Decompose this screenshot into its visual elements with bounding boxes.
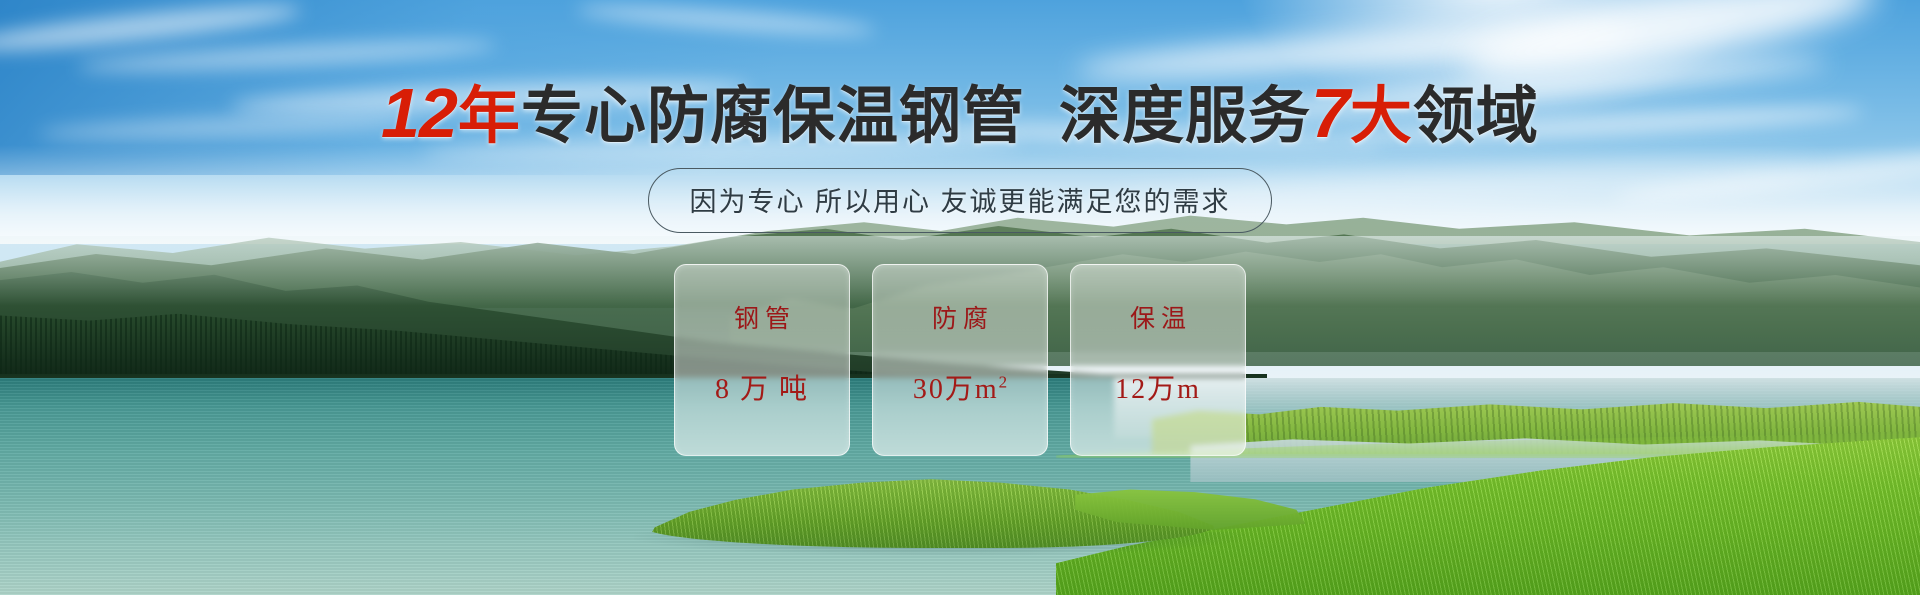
hero-banner: 12年专心防腐保温钢管深度服务7大领域 因为专心 所以用心 友诚更能满足您的需求…: [0, 0, 1920, 595]
stat-card-value: 30万m2: [913, 367, 1007, 407]
stat-card-value: 8 万 吨: [715, 367, 809, 407]
headline-fields-number: 7: [1311, 74, 1349, 152]
stat-card-value-text: 30万m: [913, 374, 999, 405]
stat-card-value: 12万m: [1115, 367, 1201, 407]
banner-subtitle-pill: 因为专心 所以用心 友诚更能满足您的需求: [648, 168, 1271, 233]
headline-fields-unit: 大: [1350, 82, 1413, 151]
stat-card-steel-pipe[interactable]: 钢管 8 万 吨: [674, 264, 850, 456]
stat-card-list: 钢管 8 万 吨 防腐 30万m2 保温 12万m: [0, 264, 1920, 456]
headline-fields-tail: 领域: [1413, 82, 1539, 151]
stat-card-label: 防腐: [926, 299, 994, 335]
banner-subtitle-wrap: 因为专心 所以用心 友诚更能满足您的需求: [0, 168, 1920, 233]
banner-content: 12年专心防腐保温钢管深度服务7大领域 因为专心 所以用心 友诚更能满足您的需求…: [0, 0, 1920, 595]
stat-card-anticorrosion[interactable]: 防腐 30万m2: [872, 264, 1048, 456]
headline-years-number: 12: [381, 74, 457, 152]
stat-card-value-superscript: 2: [999, 373, 1008, 392]
headline-main-text: 专心防腐保温钢管: [521, 82, 1025, 151]
stat-card-value-text: 8 万 吨: [715, 374, 809, 405]
stat-card-label: 钢管: [728, 299, 796, 335]
stat-card-insulation[interactable]: 保温 12万m: [1070, 264, 1246, 456]
headline-service-text: 深度服务: [1059, 82, 1311, 151]
stat-card-value-text: 12万m: [1115, 374, 1201, 405]
headline-years-unit: 年: [458, 82, 521, 151]
banner-headline: 12年专心防腐保温钢管深度服务7大领域: [0, 78, 1920, 148]
stat-card-label: 保温: [1124, 299, 1192, 335]
